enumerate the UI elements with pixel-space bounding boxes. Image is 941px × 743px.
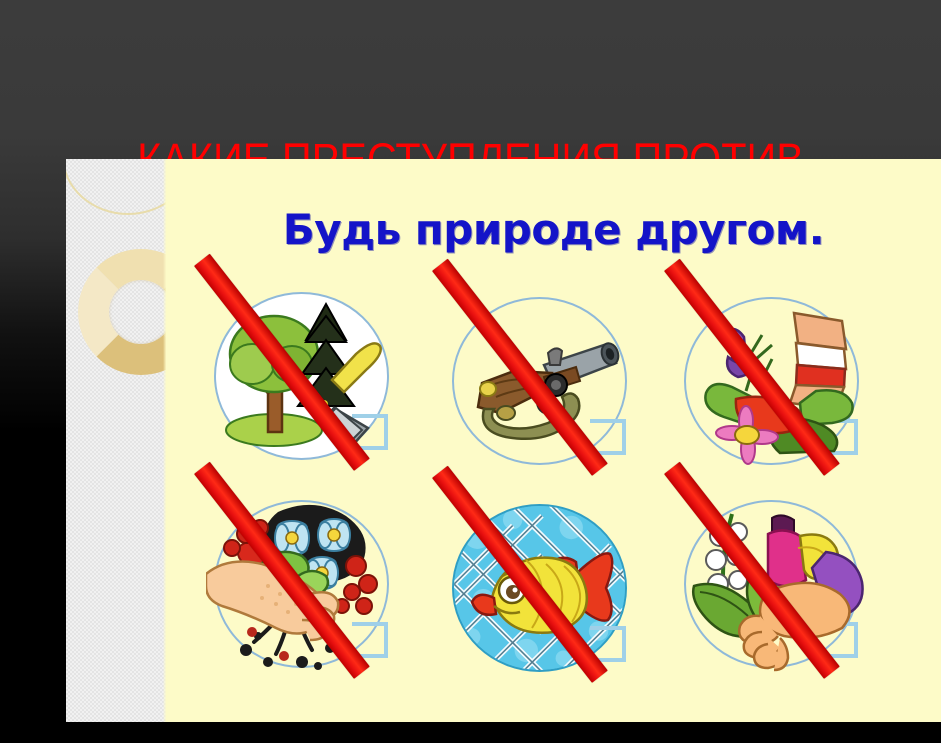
decorative-thin-ring [66, 159, 166, 215]
prohibition-item-no-cutting-trees [206, 282, 421, 487]
prohibition-item-no-picking-flowers [676, 490, 891, 695]
slide-decorative-panel [66, 159, 166, 722]
slide-heading: Будь природе другом. [166, 205, 941, 254]
prohibition-item-no-uprooting [206, 490, 421, 695]
prohibition-item-no-hunting [444, 287, 659, 492]
prohibition-item-no-netting-fish [444, 494, 659, 699]
prohibition-item-no-trampling [676, 287, 891, 492]
decorative-thick-ring [78, 249, 166, 375]
prohibition-icon-grid [206, 282, 941, 702]
slide-image: Будь природе другом. [66, 159, 941, 722]
